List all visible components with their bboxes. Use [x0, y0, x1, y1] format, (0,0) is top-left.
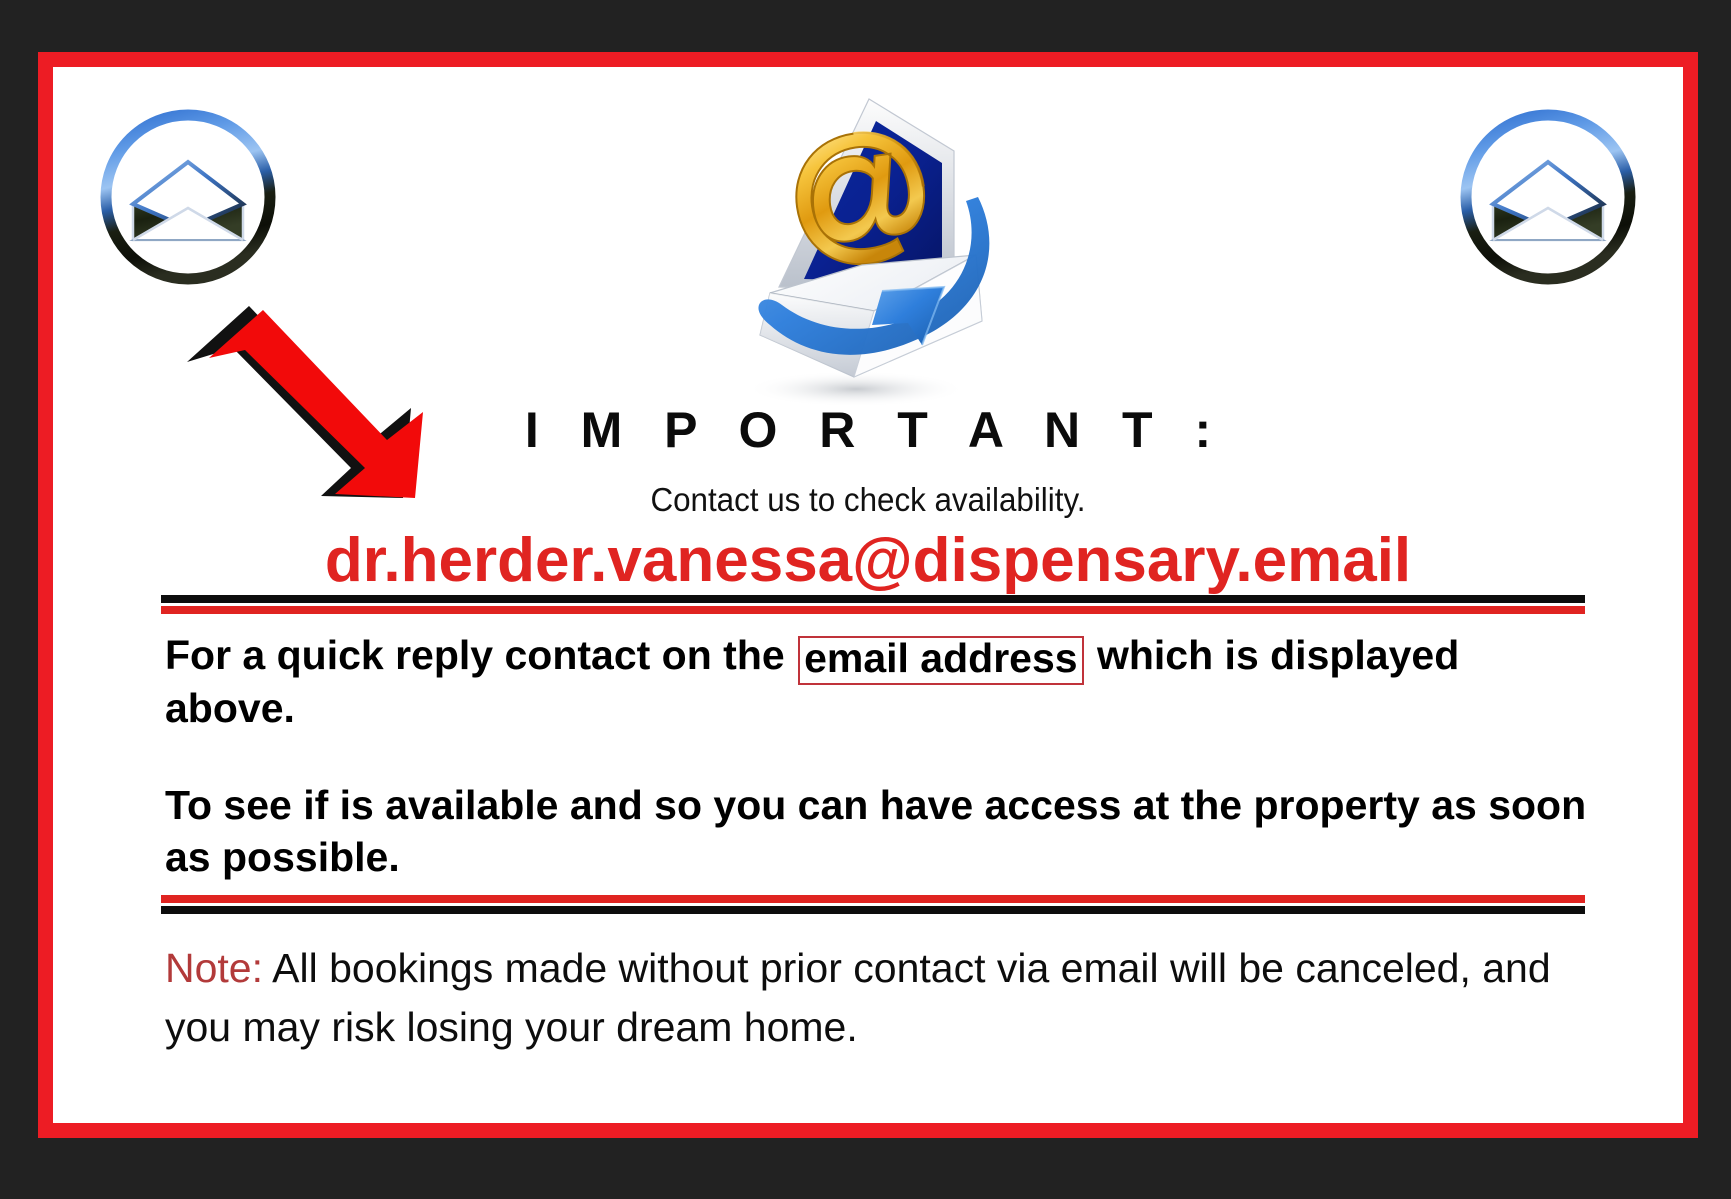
email-address[interactable]: dr.herder.vanessa@dispensary.email	[53, 525, 1683, 596]
paragraph-one-before: For a quick reply contact on the	[165, 632, 785, 678]
page-title: I M P O R T A N T :	[53, 401, 1683, 459]
note-text: All bookings made without prior contact …	[165, 945, 1551, 1050]
divider-bottom	[161, 895, 1585, 913]
divider-bar-red	[161, 895, 1585, 903]
envelope-circle-icon-right	[1455, 104, 1641, 290]
subtitle: Contact us to check availability.	[94, 481, 1643, 519]
divider-top	[161, 595, 1585, 613]
envelope-circle-icon-left	[95, 104, 281, 290]
divider-bar-red	[161, 606, 1585, 614]
poster-frame: I M P O R T A N T : Contact us to check …	[38, 52, 1698, 1138]
divider-bar-black	[161, 595, 1585, 603]
poster-card: I M P O R T A N T : Contact us to check …	[53, 67, 1683, 1123]
at-symbol-envelope-icon	[686, 77, 1016, 407]
paragraph-two: To see if is available and so you can ha…	[165, 779, 1595, 884]
note-block: Note: All bookings made without prior co…	[165, 939, 1595, 1058]
divider-bar-black	[161, 906, 1585, 914]
paragraph-one: For a quick reply contact on the email a…	[165, 629, 1595, 734]
note-label: Note:	[165, 945, 263, 991]
email-address-highlight: email address	[798, 636, 1084, 685]
